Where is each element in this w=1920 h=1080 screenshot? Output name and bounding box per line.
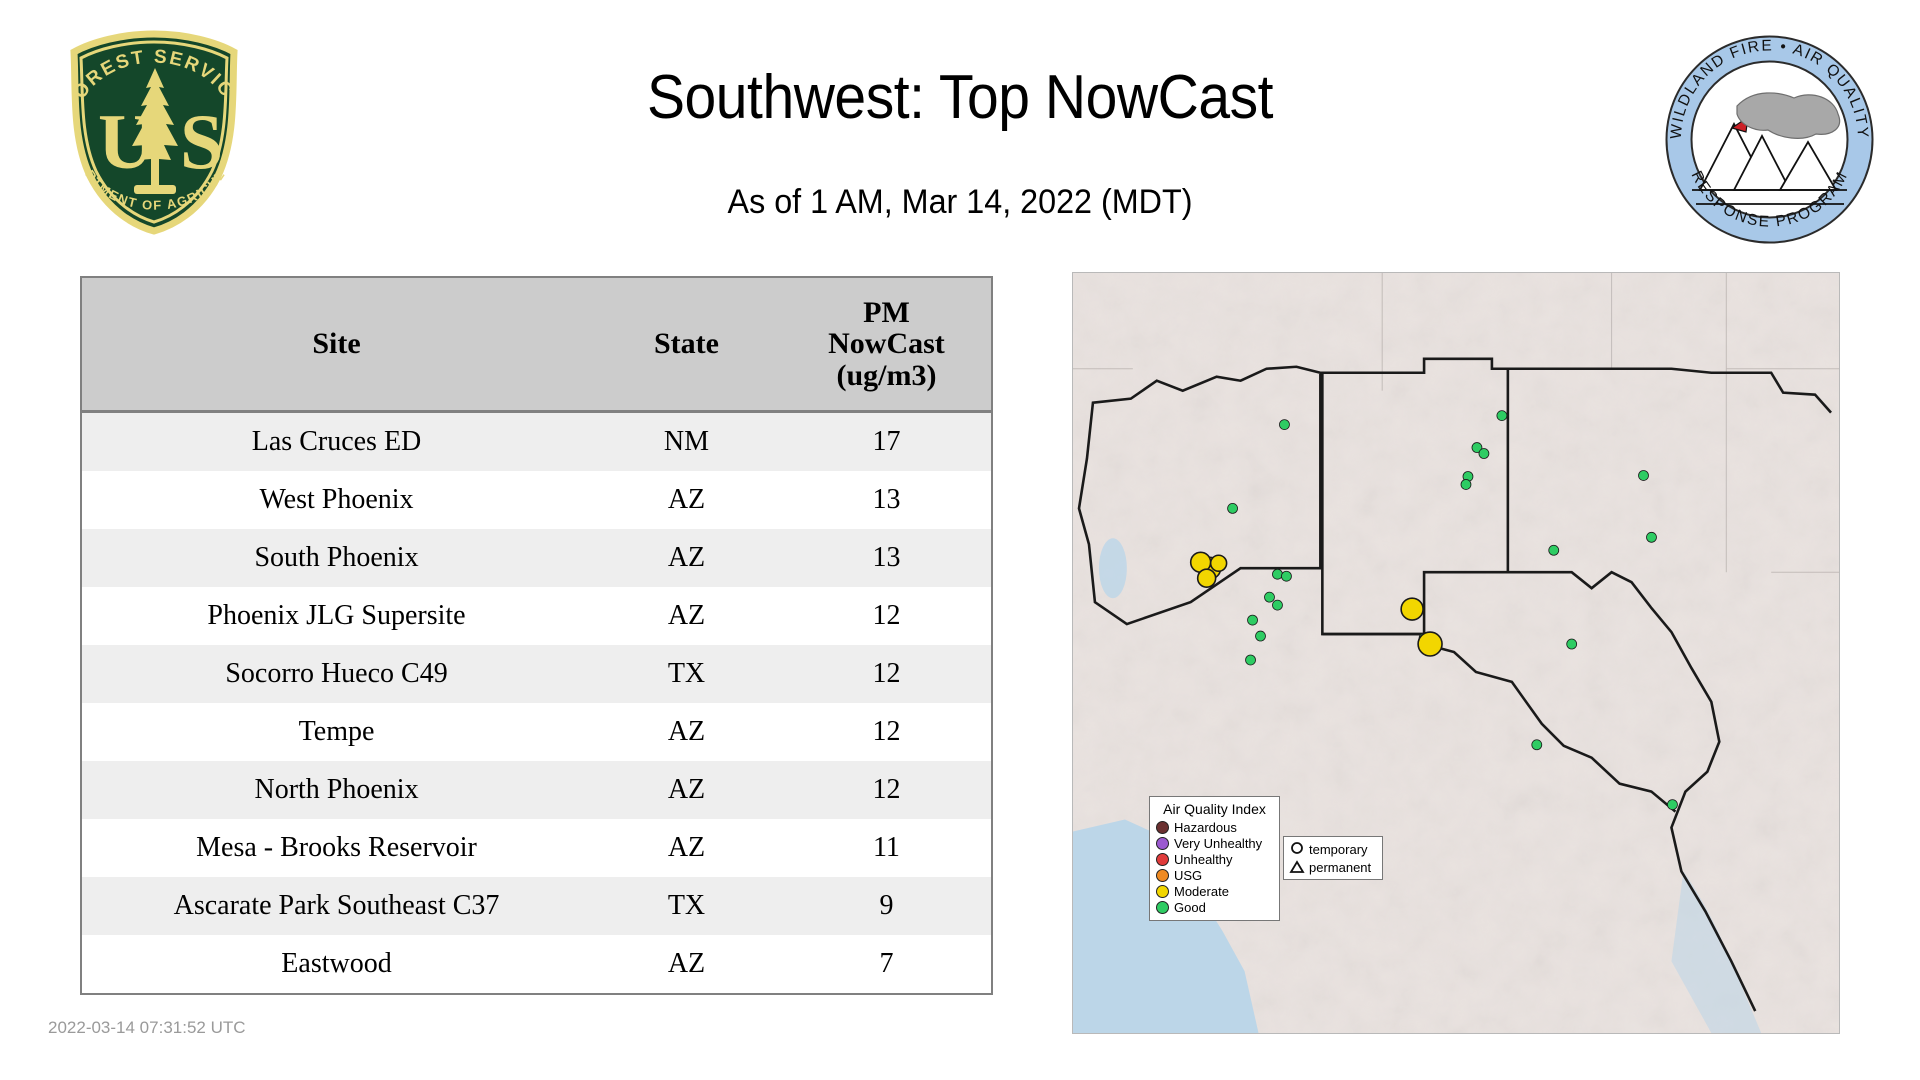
cell-state: TX: [591, 877, 782, 935]
cell-state: AZ: [591, 819, 782, 877]
aqi-color-swatch-icon: [1156, 901, 1169, 914]
monitor-marker[interactable]: [1272, 569, 1282, 579]
table-row: West PhoenixAZ13: [82, 471, 991, 529]
aqi-color-swatch-icon: [1156, 869, 1169, 882]
cell-site: Las Cruces ED: [82, 412, 591, 472]
aqi-legend-item: Good: [1156, 899, 1273, 915]
cell-pm-nowcast: 12: [782, 703, 991, 761]
monitor-marker[interactable]: [1279, 420, 1289, 430]
cell-state: NM: [591, 412, 782, 472]
marker-legend-row-permanent: permanent: [1289, 858, 1377, 876]
monitor-marker[interactable]: [1639, 470, 1649, 480]
monitor-marker[interactable]: [1401, 598, 1423, 620]
aqi-legend-item: USG: [1156, 867, 1273, 883]
table-row: Socorro Hueco C49TX12: [82, 645, 991, 703]
monitor-marker[interactable]: [1667, 800, 1677, 810]
cell-site: West Phoenix: [82, 471, 591, 529]
cell-site: Phoenix JLG Supersite: [82, 587, 591, 645]
nowcast-table: Site State PM NowCast (ug/m3) Las Cruces…: [82, 278, 991, 993]
table-row: North PhoenixAZ12: [82, 761, 991, 819]
marker-legend-temporary-label: temporary: [1309, 842, 1368, 857]
monitor-marker[interactable]: [1418, 632, 1442, 656]
monitor-marker[interactable]: [1549, 545, 1559, 555]
aqi-legend-item: Unhealthy: [1156, 851, 1273, 867]
cell-pm-nowcast: 12: [782, 761, 991, 819]
column-header-pm-line1: PM: [786, 297, 987, 328]
cell-state: AZ: [591, 471, 782, 529]
marker-legend-permanent-label: permanent: [1309, 860, 1371, 875]
aqi-legend-item: Very Unhealthy: [1156, 835, 1273, 851]
wildland-fire-air-quality-logo: WILDLAND FIRE • AIR QUALITY RESPONSE PRO…: [1662, 32, 1877, 247]
cell-state: AZ: [591, 935, 782, 993]
cell-pm-nowcast: 12: [782, 587, 991, 645]
monitor-marker[interactable]: [1198, 569, 1216, 587]
table-row: Ascarate Park Southeast C37TX9: [82, 877, 991, 935]
generation-timestamp: 2022-03-14 07:31:52 UTC: [48, 1018, 246, 1038]
aqi-legend: Air Quality Index HazardousVery Unhealth…: [1149, 796, 1280, 921]
monitor-marker[interactable]: [1248, 615, 1258, 625]
cell-pm-nowcast: 11: [782, 819, 991, 877]
table-row: Phoenix JLG SupersiteAZ12: [82, 587, 991, 645]
aqi-legend-title: Air Quality Index: [1156, 801, 1273, 817]
monitor-marker[interactable]: [1256, 631, 1266, 641]
nowcast-table-container: Site State PM NowCast (ug/m3) Las Cruces…: [80, 276, 993, 995]
table-body: Las Cruces EDNM17West PhoenixAZ13South P…: [82, 412, 991, 994]
monitor-marker[interactable]: [1265, 592, 1275, 602]
marker-legend-row-temporary: temporary: [1289, 840, 1377, 858]
aqi-color-swatch-icon: [1156, 821, 1169, 834]
column-header-state-label: State: [654, 327, 719, 360]
monitor-marker[interactable]: [1497, 411, 1507, 421]
column-header-state: State: [591, 278, 782, 412]
cell-state: AZ: [591, 703, 782, 761]
monitor-marker[interactable]: [1228, 503, 1238, 513]
cell-pm-nowcast: 9: [782, 877, 991, 935]
aqi-legend-item: Moderate: [1156, 883, 1273, 899]
monitor-marker[interactable]: [1647, 532, 1657, 542]
table-row: EastwoodAZ7: [82, 935, 991, 993]
monitor-marker[interactable]: [1272, 600, 1282, 610]
table-row: Mesa - Brooks ReservoirAZ11: [82, 819, 991, 877]
aqi-color-swatch-icon: [1156, 853, 1169, 866]
column-header-pm-line2: NowCast: [786, 328, 987, 359]
cell-site: Ascarate Park Southeast C37: [82, 877, 591, 935]
monitor-marker[interactable]: [1281, 571, 1291, 581]
column-header-site-label: Site: [312, 327, 360, 360]
table-row: South PhoenixAZ13: [82, 529, 991, 587]
page-title: Southwest: Top NowCast: [316, 62, 1604, 133]
aqi-color-swatch-icon: [1156, 837, 1169, 850]
aqi-legend-item-label: Good: [1174, 900, 1206, 915]
page-header: FOREST SERVICE U S DEPARTMENT OF AGRICUL…: [0, 0, 1920, 265]
cell-site: Tempe: [82, 703, 591, 761]
aqi-legend-item-label: Moderate: [1174, 884, 1229, 899]
circle-outline-icon: [1289, 841, 1305, 857]
column-header-pm-line3: (ug/m3): [786, 360, 987, 391]
cell-pm-nowcast: 12: [782, 645, 991, 703]
aqi-legend-items: HazardousVery UnhealthyUnhealthyUSGModer…: [1156, 819, 1273, 915]
monitor-marker[interactable]: [1246, 655, 1256, 665]
monitor-marker[interactable]: [1567, 639, 1577, 649]
aqi-legend-item: Hazardous: [1156, 819, 1273, 835]
cell-pm-nowcast: 7: [782, 935, 991, 993]
cell-pm-nowcast: 17: [782, 412, 991, 472]
cell-state: AZ: [591, 761, 782, 819]
column-header-site: Site: [82, 278, 591, 412]
cell-site: Socorro Hueco C49: [82, 645, 591, 703]
cell-state: TX: [591, 645, 782, 703]
table-row: Las Cruces EDNM17: [82, 412, 991, 472]
table-header-row: Site State PM NowCast (ug/m3): [82, 278, 991, 412]
aqi-legend-item-label: Very Unhealthy: [1174, 836, 1262, 851]
aqi-color-swatch-icon: [1156, 885, 1169, 898]
triangle-outline-icon: [1289, 859, 1305, 875]
cell-state: AZ: [591, 529, 782, 587]
cell-state: AZ: [591, 587, 782, 645]
usda-forest-service-logo: FOREST SERVICE U S DEPARTMENT OF AGRICUL…: [52, 30, 257, 235]
cell-site: North Phoenix: [82, 761, 591, 819]
air-quality-map[interactable]: Air Quality Index HazardousVery Unhealth…: [1072, 272, 1840, 1034]
table-row: TempeAZ12: [82, 703, 991, 761]
cell-site: South Phoenix: [82, 529, 591, 587]
aqi-legend-item-label: Unhealthy: [1174, 852, 1233, 867]
column-header-pm-nowcast: PM NowCast (ug/m3): [782, 278, 991, 412]
lake-mead: [1099, 538, 1127, 598]
cell-pm-nowcast: 13: [782, 471, 991, 529]
monitor-marker[interactable]: [1532, 740, 1542, 750]
table-head: Site State PM NowCast (ug/m3): [82, 278, 991, 412]
monitor-marker[interactable]: [1479, 449, 1489, 459]
marker-type-legend: temporary permanent: [1283, 836, 1383, 880]
monitor-marker[interactable]: [1461, 479, 1471, 489]
aqi-legend-item-label: USG: [1174, 868, 1202, 883]
monitor-marker[interactable]: [1211, 555, 1227, 571]
aqi-legend-item-label: Hazardous: [1174, 820, 1237, 835]
cell-pm-nowcast: 13: [782, 529, 991, 587]
cell-site: Eastwood: [82, 935, 591, 993]
page-subtitle: As of 1 AM, Mar 14, 2022 (MDT): [295, 183, 1625, 222]
cell-site: Mesa - Brooks Reservoir: [82, 819, 591, 877]
